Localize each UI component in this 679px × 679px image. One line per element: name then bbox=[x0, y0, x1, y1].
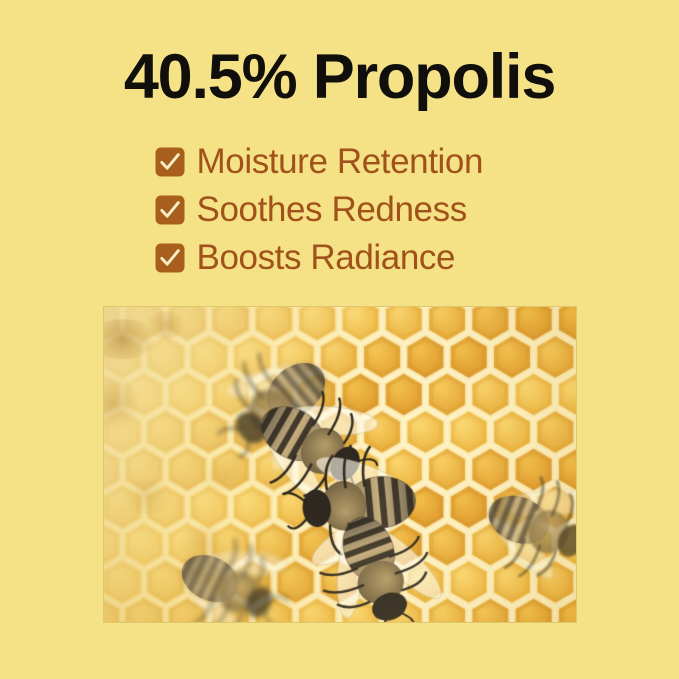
list-item: Moisture Retention bbox=[155, 138, 525, 186]
page-title: 40.5% Propolis bbox=[0, 40, 679, 114]
checkbox-checked-icon bbox=[155, 147, 185, 177]
list-item-label: Boosts Radiance bbox=[197, 239, 456, 277]
product-benefit-infographic: 40.5% Propolis Moisture Retention Soothe… bbox=[0, 0, 679, 679]
list-item-label: Moisture Retention bbox=[197, 143, 484, 181]
list-item-label: Soothes Redness bbox=[197, 191, 467, 229]
checkbox-checked-icon bbox=[155, 243, 185, 273]
benefit-list: Moisture Retention Soothes Redness Boost… bbox=[0, 138, 679, 282]
checkbox-checked-icon bbox=[155, 195, 185, 225]
list-item: Boosts Radiance bbox=[155, 234, 525, 282]
list-item: Soothes Redness bbox=[155, 186, 525, 234]
honeycomb-bees-photo bbox=[104, 307, 576, 622]
honeycomb-bees-image bbox=[104, 307, 576, 622]
